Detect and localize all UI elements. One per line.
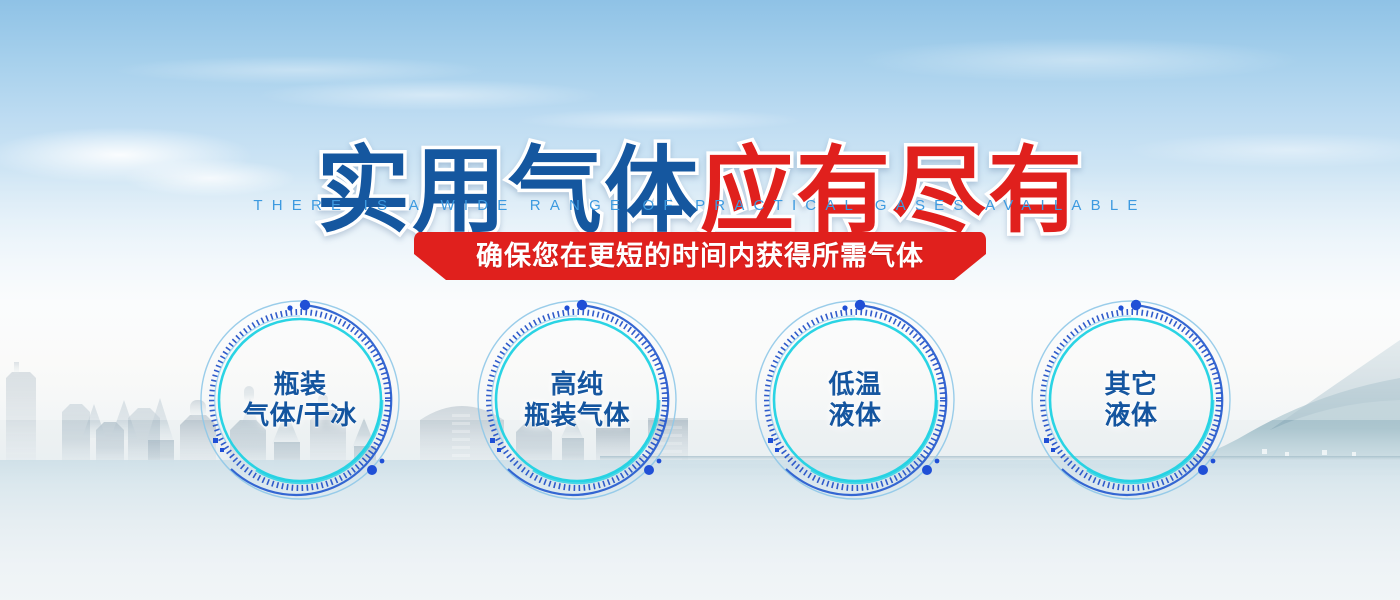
category-line-1: 低温 bbox=[828, 369, 881, 400]
category-line-1: 瓶装 bbox=[273, 369, 326, 400]
headline-blue-part: 实用气体 bbox=[316, 144, 700, 238]
category-line-2: 瓶装气体 bbox=[524, 400, 630, 431]
category-circle-cryogenic-liquid[interactable]: 低温 液体 bbox=[751, 296, 959, 504]
category-circle-label: 瓶装 气体/干冰 bbox=[196, 296, 404, 504]
category-line-1: 高纯 bbox=[550, 369, 603, 400]
hero-banner: 实用气体应有尽有 THERE IS A WIDE RANGE OF PRACTI… bbox=[0, 0, 1400, 600]
category-circle-label: 高纯 瓶装气体 bbox=[473, 296, 681, 504]
category-circle-high-purity-bottled-gas[interactable]: 高纯 瓶装气体 bbox=[473, 296, 681, 504]
ribbon-label: 确保您在更短的时间内获得所需气体 bbox=[476, 243, 924, 270]
headline-subtitle: THERE IS A WIDE RANGE OF PRACTICAL GASES… bbox=[0, 197, 1400, 214]
category-circle-label: 其它 液体 bbox=[1027, 296, 1235, 504]
category-circle-bottled-gas-dry-ice[interactable]: 瓶装 气体/干冰 bbox=[196, 296, 404, 504]
category-circle-other-liquid[interactable]: 其它 液体 bbox=[1027, 296, 1235, 504]
page-title: 实用气体应有尽有 bbox=[0, 144, 1400, 238]
category-circle-label: 低温 液体 bbox=[751, 296, 959, 504]
category-line-2: 液体 bbox=[1104, 400, 1157, 431]
ribbon-banner: 确保您在更短的时间内获得所需气体 bbox=[414, 232, 986, 280]
category-line-2: 气体/干冰 bbox=[243, 400, 357, 431]
category-line-1: 其它 bbox=[1104, 369, 1157, 400]
category-line-2: 液体 bbox=[828, 400, 881, 431]
category-circle-group: 瓶装 气体/干冰 bbox=[0, 296, 1400, 516]
headline-red-part: 应有尽有 bbox=[700, 144, 1084, 238]
